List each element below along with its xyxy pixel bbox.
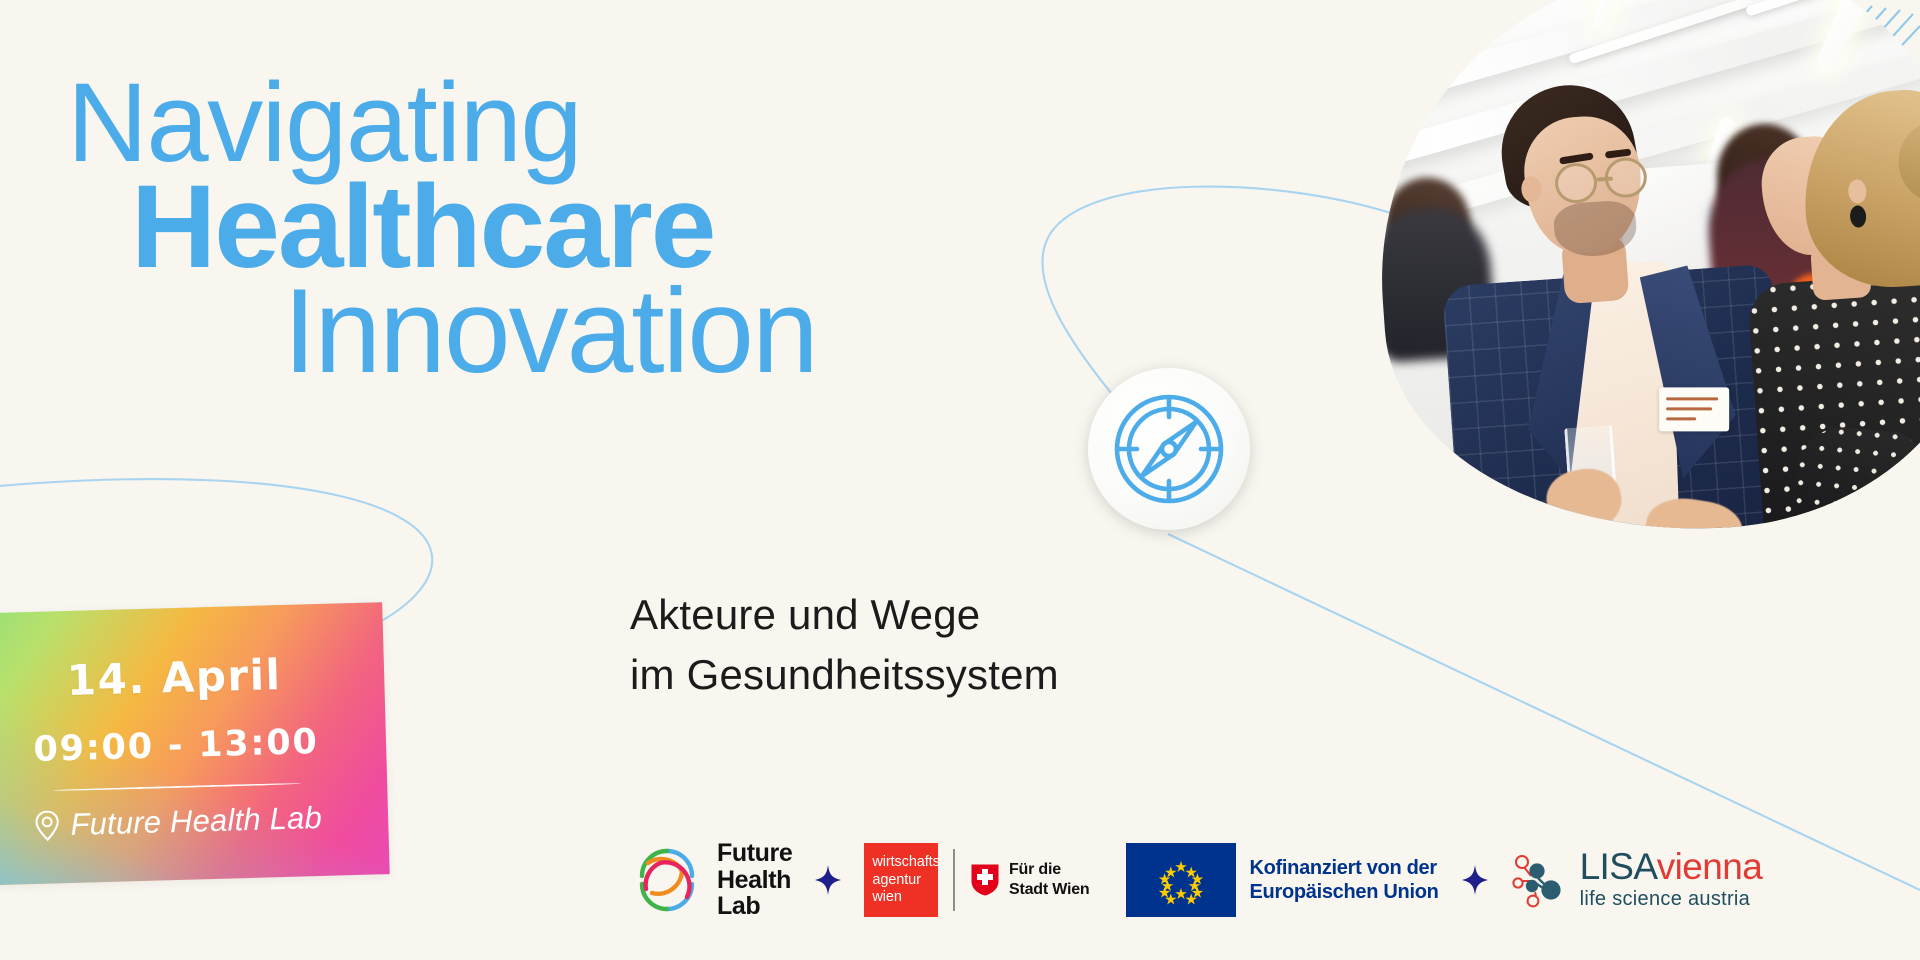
- subtitle: Akteure und Wege im Gesundheitssystem: [630, 585, 1059, 704]
- compass-icon: [1110, 390, 1228, 508]
- eu-text-line-2: Europäischen Union: [1250, 880, 1439, 904]
- waw-line-3: wien: [872, 889, 938, 906]
- lisa-name-part-2: vienna: [1657, 846, 1762, 887]
- wirtschaftsagentur-square: wirtschafts agentur wien: [864, 843, 938, 917]
- separator-star-1: [814, 864, 842, 896]
- event-location: Future Health Lab: [34, 799, 322, 843]
- separator-star-2: [1461, 864, 1489, 896]
- divider: [53, 782, 301, 791]
- subtitle-line-1: Akteure und Wege: [630, 585, 1059, 645]
- compass-badge: [1088, 368, 1250, 530]
- map-pin-icon: [34, 809, 61, 842]
- waw-line-1: wirtschafts: [872, 854, 938, 871]
- logo-wirtschaftsagentur-wien: wirtschafts agentur wien Für die Stadt W…: [864, 843, 1089, 917]
- partner-logo-bar: Future Health Lab wirtschafts agentur wi…: [630, 820, 1762, 940]
- lisa-molecule-icon: [1511, 850, 1569, 910]
- waw-text-line-2: Stadt Wien: [1009, 880, 1090, 900]
- waw-text-line-1: Für die: [1009, 860, 1090, 880]
- fhl-line-2: Health: [717, 867, 792, 894]
- eu-text-line-1: Kofinanziert von der: [1250, 856, 1439, 880]
- logo-divider: [953, 849, 955, 911]
- future-health-lab-mark: [630, 843, 704, 917]
- page-title: Navigating Healthcare Innovation: [63, 68, 1063, 390]
- fhl-line-3: Lab: [717, 893, 792, 920]
- logo-future-health-lab: Future Health Lab: [630, 840, 792, 920]
- fhl-line-1: Future: [717, 840, 792, 867]
- lisa-name-part-1: LISA: [1580, 846, 1657, 887]
- event-banner: Navigating Healthcare Innovation Akteure…: [0, 0, 1920, 960]
- event-photo: [1361, 0, 1920, 550]
- logo-european-union: Kofinanziert von der Europäischen Union: [1126, 843, 1439, 917]
- event-date: 14. April: [66, 650, 282, 705]
- lisa-tagline: life science austria: [1580, 888, 1763, 911]
- waw-line-2: agentur: [872, 872, 938, 889]
- eu-flag-icon: [1126, 843, 1236, 917]
- event-details-card: 14. April 09:00 - 13:00 Future Health La…: [0, 602, 390, 886]
- four-point-star-icon: [814, 864, 842, 896]
- logo-lisa-vienna: LISAvienna life science austria: [1511, 849, 1763, 911]
- vienna-coat-of-arms-icon: [970, 863, 1000, 897]
- subtitle-line-2: im Gesundheitssystem: [630, 645, 1059, 705]
- four-point-star-icon: [1461, 864, 1489, 896]
- event-location-label: Future Health Lab: [70, 799, 322, 842]
- event-time: 09:00 - 13:00: [33, 722, 319, 770]
